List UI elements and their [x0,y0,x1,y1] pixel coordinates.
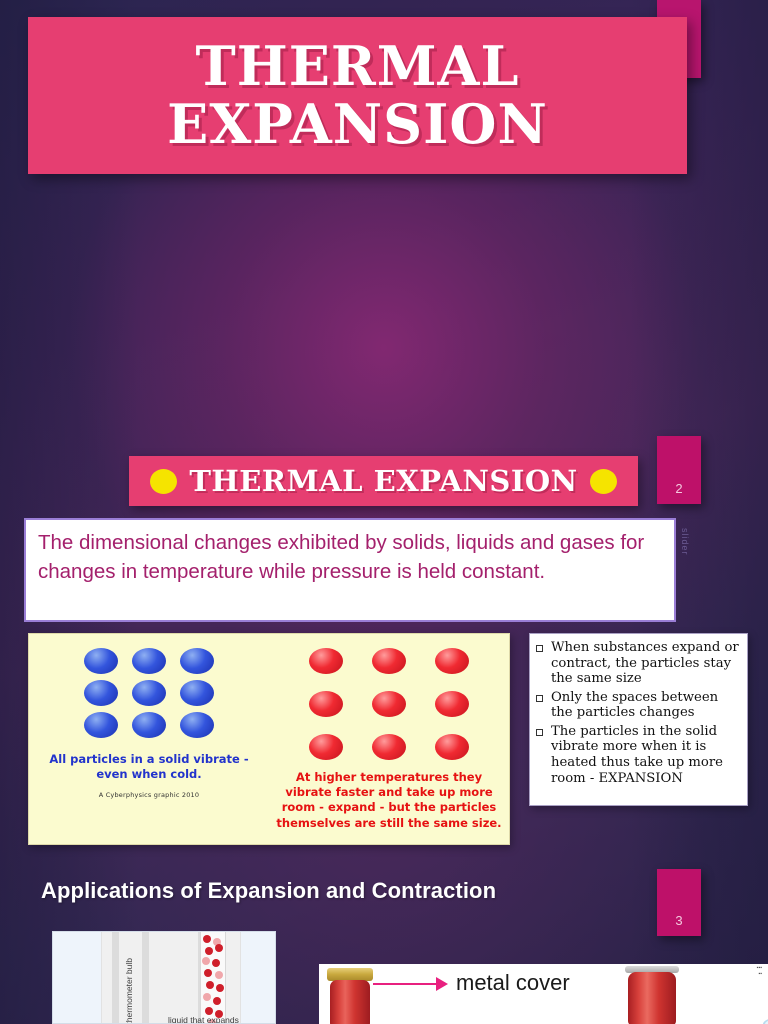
jar-illustration: metal cover ▪▪▪▪▪ [319,964,768,1024]
slide-3-page-number-tab: 3 [657,869,701,936]
thermometer-stripe [112,931,119,1024]
thermometer-illustration: thermometer bulb liquid that expands [52,931,276,1024]
water-bowl [763,1012,768,1024]
thermometer-stripe [142,931,149,1024]
thermometer-bulb-label: thermometer bulb [124,958,134,1024]
jar-image-fine-print: ▪▪▪▪▪ [757,965,762,977]
slide-3-page-number: 3 [675,913,682,928]
jam-jar-left [327,968,373,1024]
page-title: Applications of Expansion and Contractio… [41,878,496,904]
thermometer-body: thermometer bulb liquid that expands [101,931,241,1024]
jar-body [628,972,676,1024]
jam-jar-right [625,966,679,1024]
thermometer-tube [200,931,226,1024]
slide-3-applications: 3 Applications of Expansion and Contract… [0,0,768,1024]
callout-arrow-line [373,983,437,985]
liquid-expands-label: liquid that expands [168,1015,239,1024]
callout-arrow-head-icon [436,977,448,991]
jar-body [330,980,370,1024]
metal-cover-label: metal cover [456,970,570,996]
